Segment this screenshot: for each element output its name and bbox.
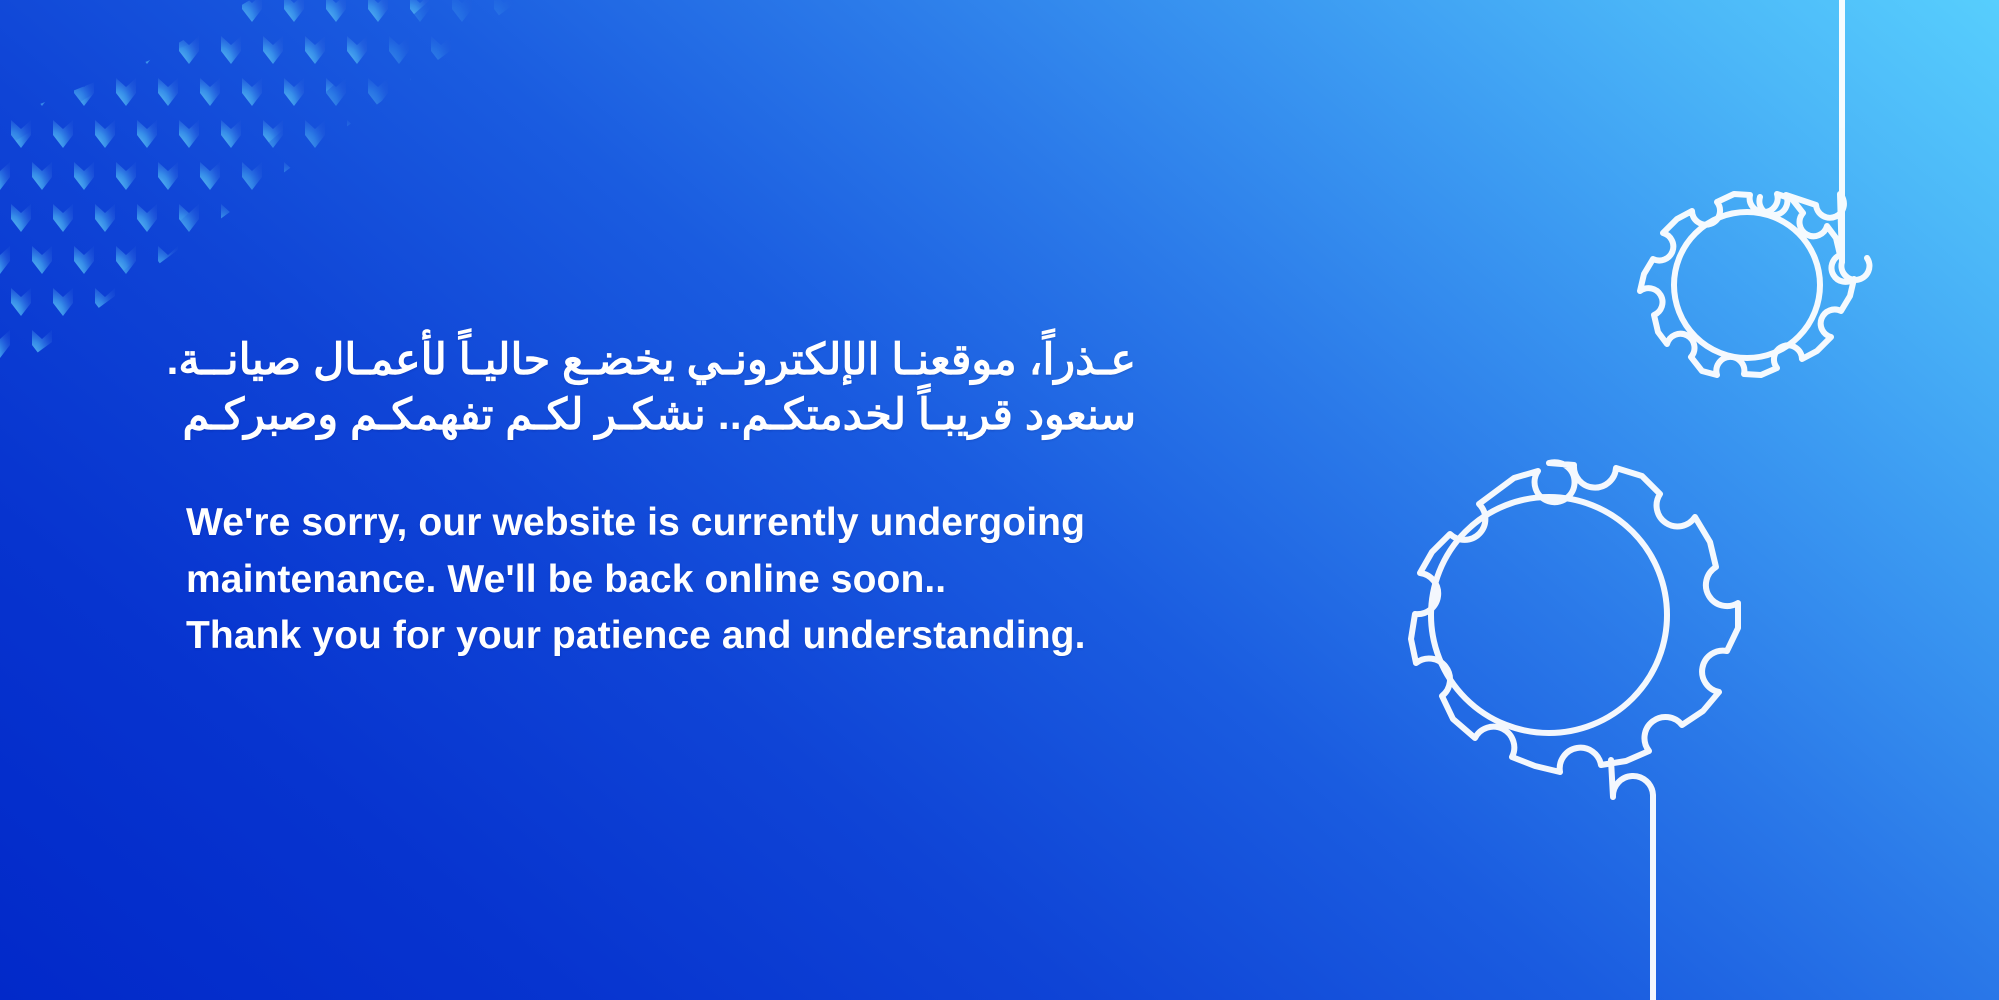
arabic-line-2: سنعود قريبـاً لخدمتكـم.. نشكـر لكـم تفهم… bbox=[186, 388, 1136, 443]
english-line-1: We're sorry, our website is currently un… bbox=[186, 495, 1246, 552]
gear-large bbox=[1411, 462, 1738, 772]
english-line-2: maintenance. We'll be back online soon.. bbox=[186, 552, 1246, 609]
gear-small-hub bbox=[1674, 212, 1820, 358]
gear-large-hub bbox=[1431, 497, 1667, 733]
connector-line-bottom bbox=[1611, 760, 1653, 1000]
english-line-3: Thank you for your patience and understa… bbox=[186, 608, 1246, 665]
arabic-message: عـذراً، موقعنـا الإلكترونـي يخضـع حاليـا… bbox=[186, 333, 1136, 443]
chevron-pattern-svg bbox=[0, 0, 520, 380]
gear-small bbox=[1640, 194, 1869, 375]
maintenance-page: عـذراً، موقعنـا الإلكترونـي يخضـع حاليـا… bbox=[0, 0, 1999, 1000]
message-block: عـذراً، موقعنـا الإلكترونـي يخضـع حاليـا… bbox=[186, 333, 1246, 665]
english-message: We're sorry, our website is currently un… bbox=[186, 495, 1246, 665]
chevron-dot-pattern bbox=[0, 0, 520, 380]
arabic-line-1: عـذراً، موقعنـا الإلكترونـي يخضـع حاليـا… bbox=[186, 333, 1136, 388]
